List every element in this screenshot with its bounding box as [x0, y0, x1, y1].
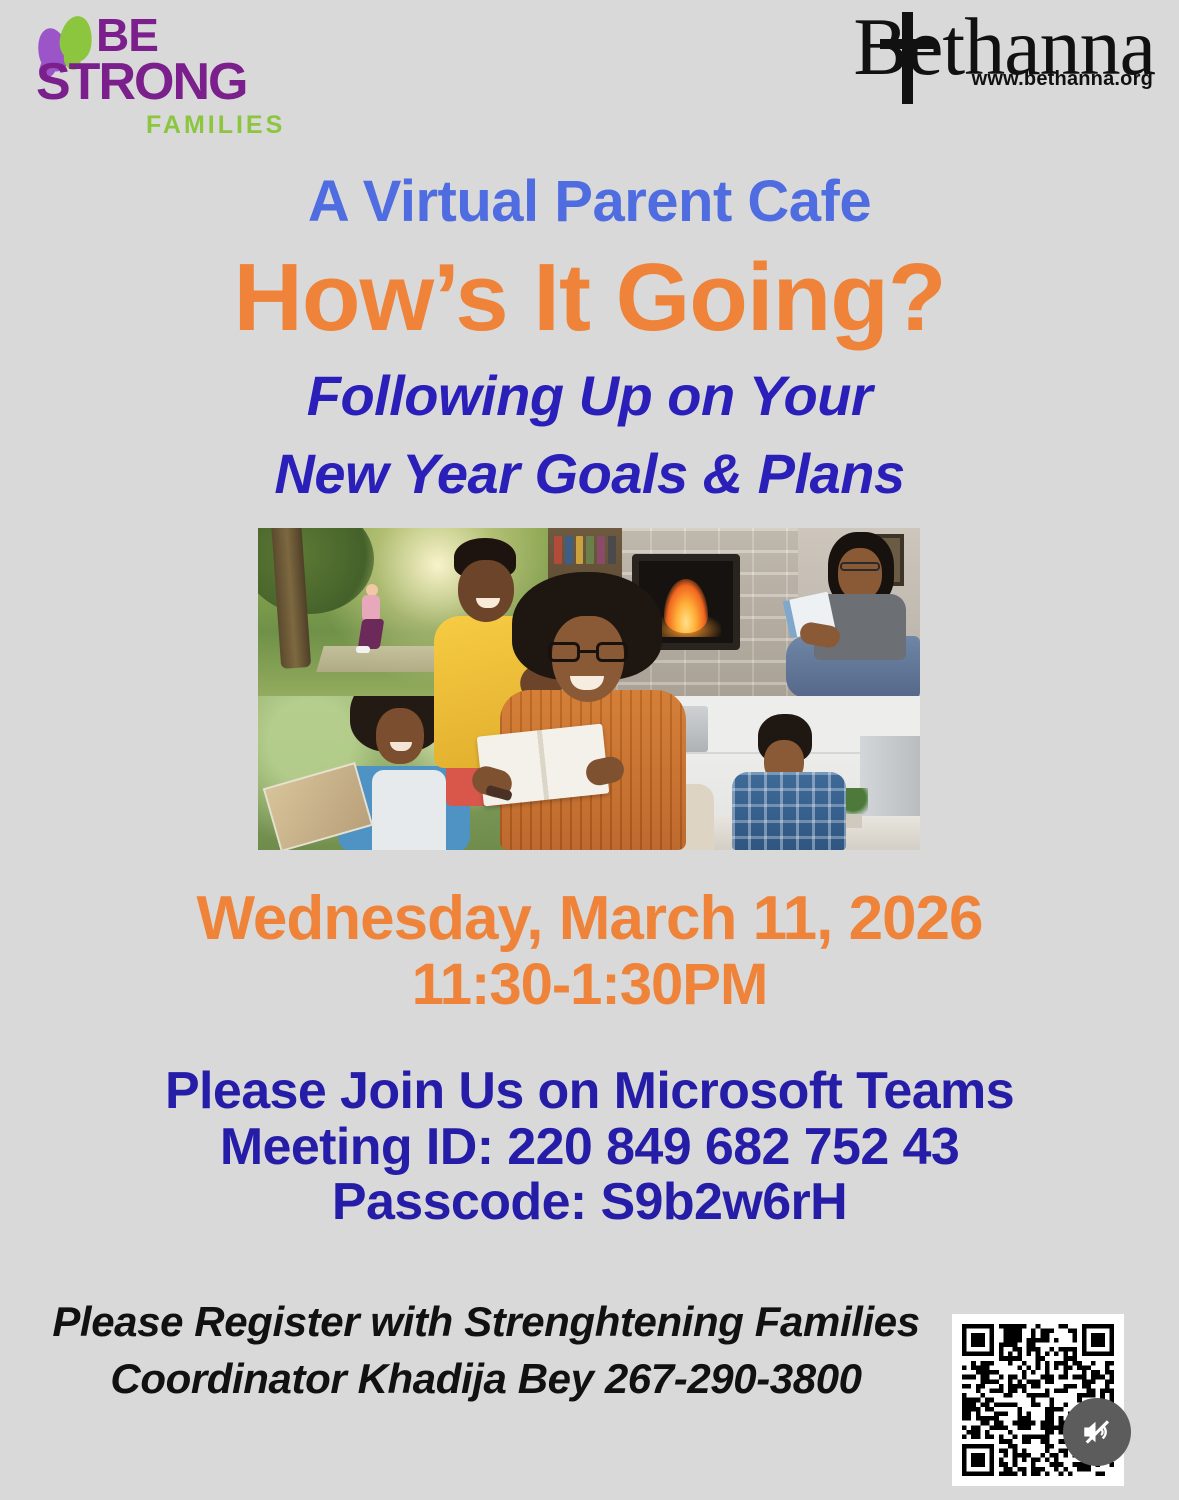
event-subtitle-line1: Following Up on Your [0, 364, 1179, 427]
teams-meeting-id[interactable]: Meeting ID: 220 849 682 752 43 [0, 1120, 1179, 1176]
mute-icon[interactable] [1063, 1398, 1131, 1466]
teams-passcode[interactable]: Passcode: S9b2w6rH [0, 1175, 1179, 1231]
be-strong-families-logo: BE STRONG FAMILIES [34, 8, 294, 138]
logo-text-families: FAMILIES [146, 113, 285, 138]
event-date: Wednesday, March 11, 2026 [0, 884, 1179, 953]
cross-icon [902, 12, 913, 104]
bethanna-url: www.bethanna.org [972, 68, 1153, 91]
runner-figure [354, 584, 388, 656]
event-datetime-block: Wednesday, March 11, 2026 11:30-1:30PM [0, 884, 1179, 1018]
teams-info-block: Please Join Us on Microsoft Teams Meetin… [0, 1064, 1179, 1231]
event-time: 11:30-1:30PM [0, 953, 1179, 1018]
logo-text-strong: STRONG [36, 56, 246, 108]
woman-reading-figure [768, 532, 916, 696]
photo-collage [258, 528, 920, 850]
teams-join-prompt: Please Join Us on Microsoft Teams [0, 1064, 1179, 1120]
kitchen-woman-2-figure [730, 714, 850, 850]
man-reading-book-figure [490, 572, 686, 850]
headline-block: A Virtual Parent Cafe How’s It Going? Fo… [0, 172, 1179, 505]
registration-contact[interactable]: Coordinator Khadija Bey 267-290-3800 [36, 1351, 936, 1408]
volume-muted-glyph [1079, 1414, 1115, 1450]
registration-instruction: Please Register with Strenghtening Famil… [36, 1294, 936, 1351]
event-subtitle-line2: New Year Goals & Plans [0, 442, 1179, 505]
event-kicker: A Virtual Parent Cafe [0, 172, 1179, 233]
logo-text-be: BE [96, 12, 158, 58]
page-title: How’s It Going? [0, 245, 1179, 351]
bethanna-logo: Bethanna www.bethanna.org [755, 6, 1155, 116]
registration-block: Please Register with Strenghtening Famil… [36, 1294, 936, 1407]
